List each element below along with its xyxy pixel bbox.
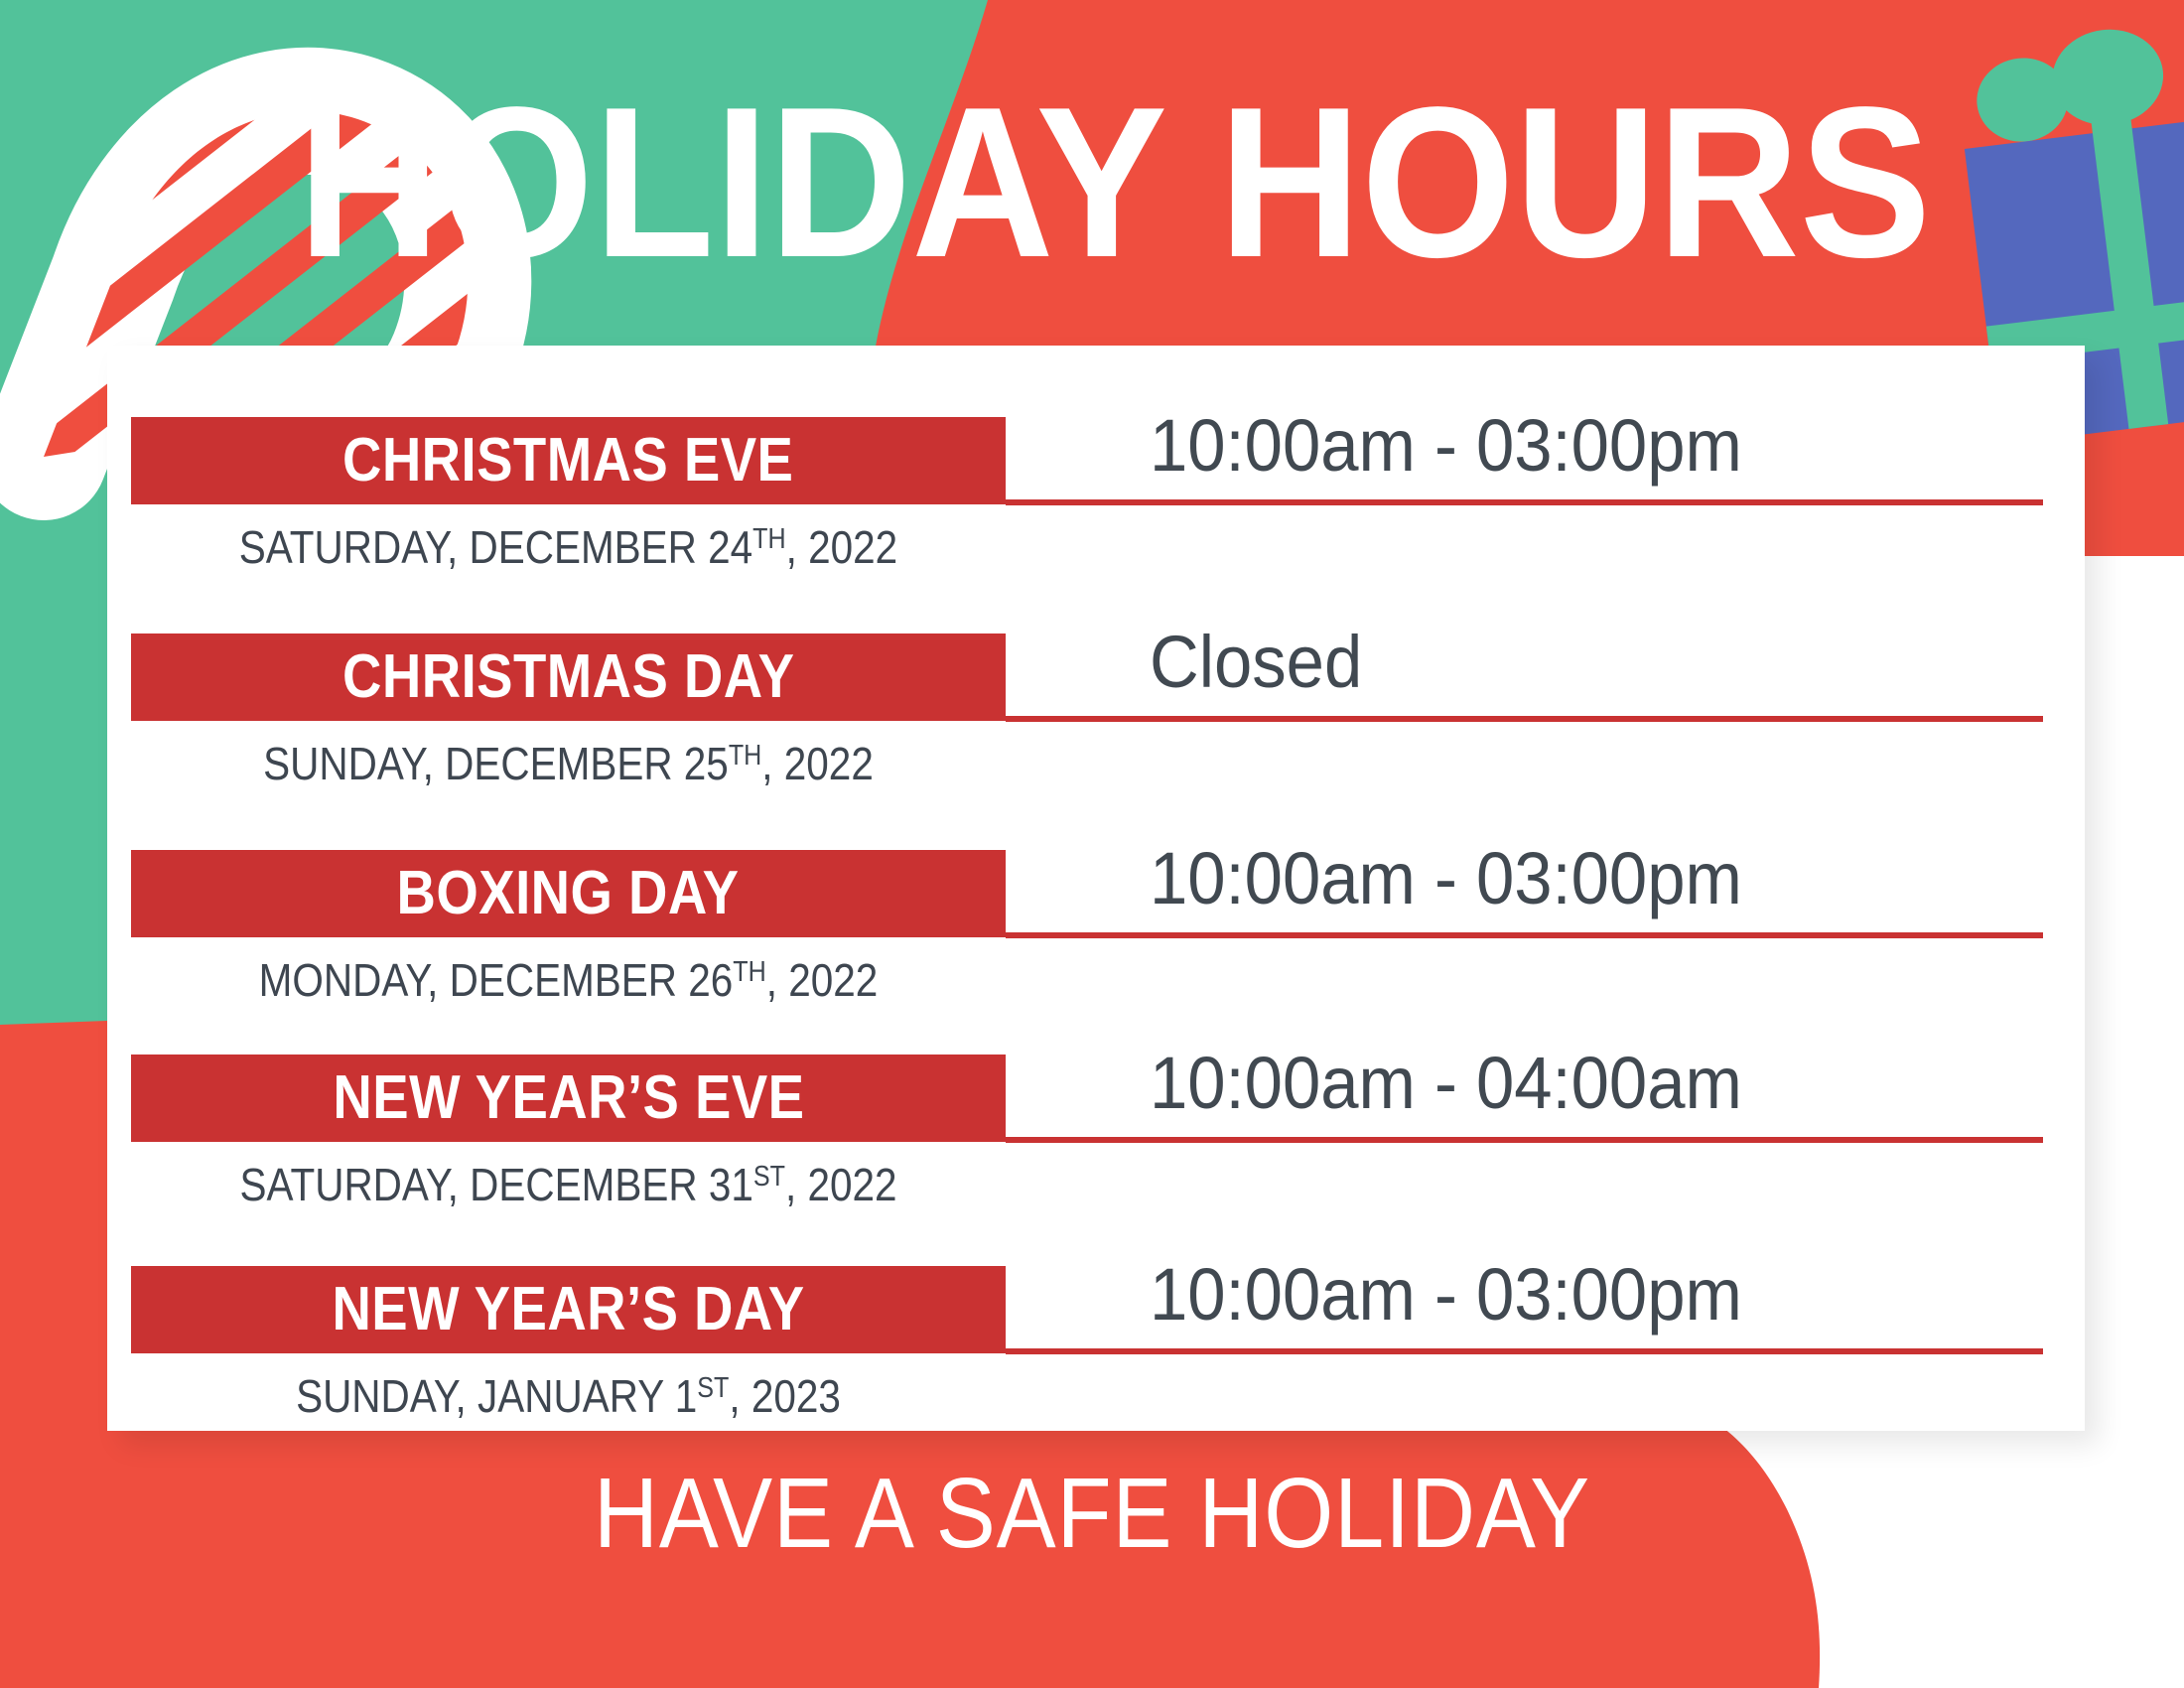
date-year: , 2023 xyxy=(729,1370,841,1422)
hours-card: CHRISTMAS EVE SATURDAY, DECEMBER 24TH, 2… xyxy=(107,346,2085,1431)
holiday-hours: 10:00am - 03:00pm xyxy=(1150,407,1980,485)
holiday-hours-poster: HOLIDAY HOURS CHRISTMAS EVE SATURDAY, DE… xyxy=(0,0,2184,1688)
date-year: , 2022 xyxy=(761,738,874,789)
page-title: HOLIDAY HOURS xyxy=(298,77,1796,286)
holiday-hours: 10:00am - 03:00pm xyxy=(1150,1256,1980,1334)
date-suffix: TH xyxy=(752,523,785,555)
holiday-label-chip: BOXING DAY xyxy=(131,850,1006,937)
holiday-date: MONDAY, DECEMBER 26TH, 2022 xyxy=(184,955,953,1005)
date-suffix: ST xyxy=(753,1161,785,1193)
holiday-label-chip: CHRISTMAS DAY xyxy=(131,633,1006,721)
holiday-date: SATURDAY, DECEMBER 31ST, 2022 xyxy=(184,1160,953,1209)
holiday-label-chip: CHRISTMAS EVE xyxy=(131,417,1006,504)
holiday-date: SUNDAY, DECEMBER 25TH, 2022 xyxy=(184,739,953,788)
date-text: SATURDAY, DECEMBER 31 xyxy=(239,1159,752,1210)
date-year: , 2022 xyxy=(766,954,879,1006)
row-rule xyxy=(1006,1348,2043,1354)
footer-message: HAVE A SAFE HOLIDAY xyxy=(109,1458,2075,1569)
date-suffix: ST xyxy=(697,1372,729,1404)
holiday-date: SUNDAY, JANUARY 1ST, 2023 xyxy=(184,1371,953,1421)
holiday-hours: 10:00am - 04:00am xyxy=(1150,1045,1980,1122)
date-suffix: TH xyxy=(733,956,765,988)
holiday-date: SATURDAY, DECEMBER 24TH, 2022 xyxy=(184,522,953,572)
holiday-name: NEW YEAR’S DAY xyxy=(332,1278,804,1341)
holiday-name: NEW YEAR’S EVE xyxy=(333,1066,804,1130)
row-rule xyxy=(1006,932,2043,938)
holiday-hours: 10:00am - 03:00pm xyxy=(1150,840,1980,917)
holiday-name: BOXING DAY xyxy=(397,862,740,925)
holiday-hours: Closed xyxy=(1150,624,1980,701)
holiday-name: CHRISTMAS EVE xyxy=(342,429,793,492)
row-rule xyxy=(1006,1137,2043,1143)
row-rule xyxy=(1006,716,2043,722)
date-text: SUNDAY, JANUARY 1 xyxy=(296,1370,697,1422)
date-text: SATURDAY, DECEMBER 24 xyxy=(239,521,752,573)
date-suffix: TH xyxy=(729,740,761,772)
holiday-name: CHRISTMAS DAY xyxy=(342,645,794,709)
schedule-list: CHRISTMAS EVE SATURDAY, DECEMBER 24TH, 2… xyxy=(107,346,2085,1431)
holiday-label-chip: NEW YEAR’S DAY xyxy=(131,1266,1006,1353)
row-rule xyxy=(1006,499,2043,505)
date-text: SUNDAY, DECEMBER 25 xyxy=(263,738,729,789)
date-year: , 2022 xyxy=(785,1159,897,1210)
date-year: , 2022 xyxy=(786,521,898,573)
holiday-label-chip: NEW YEAR’S EVE xyxy=(131,1055,1006,1142)
date-text: MONDAY, DECEMBER 26 xyxy=(259,954,734,1006)
